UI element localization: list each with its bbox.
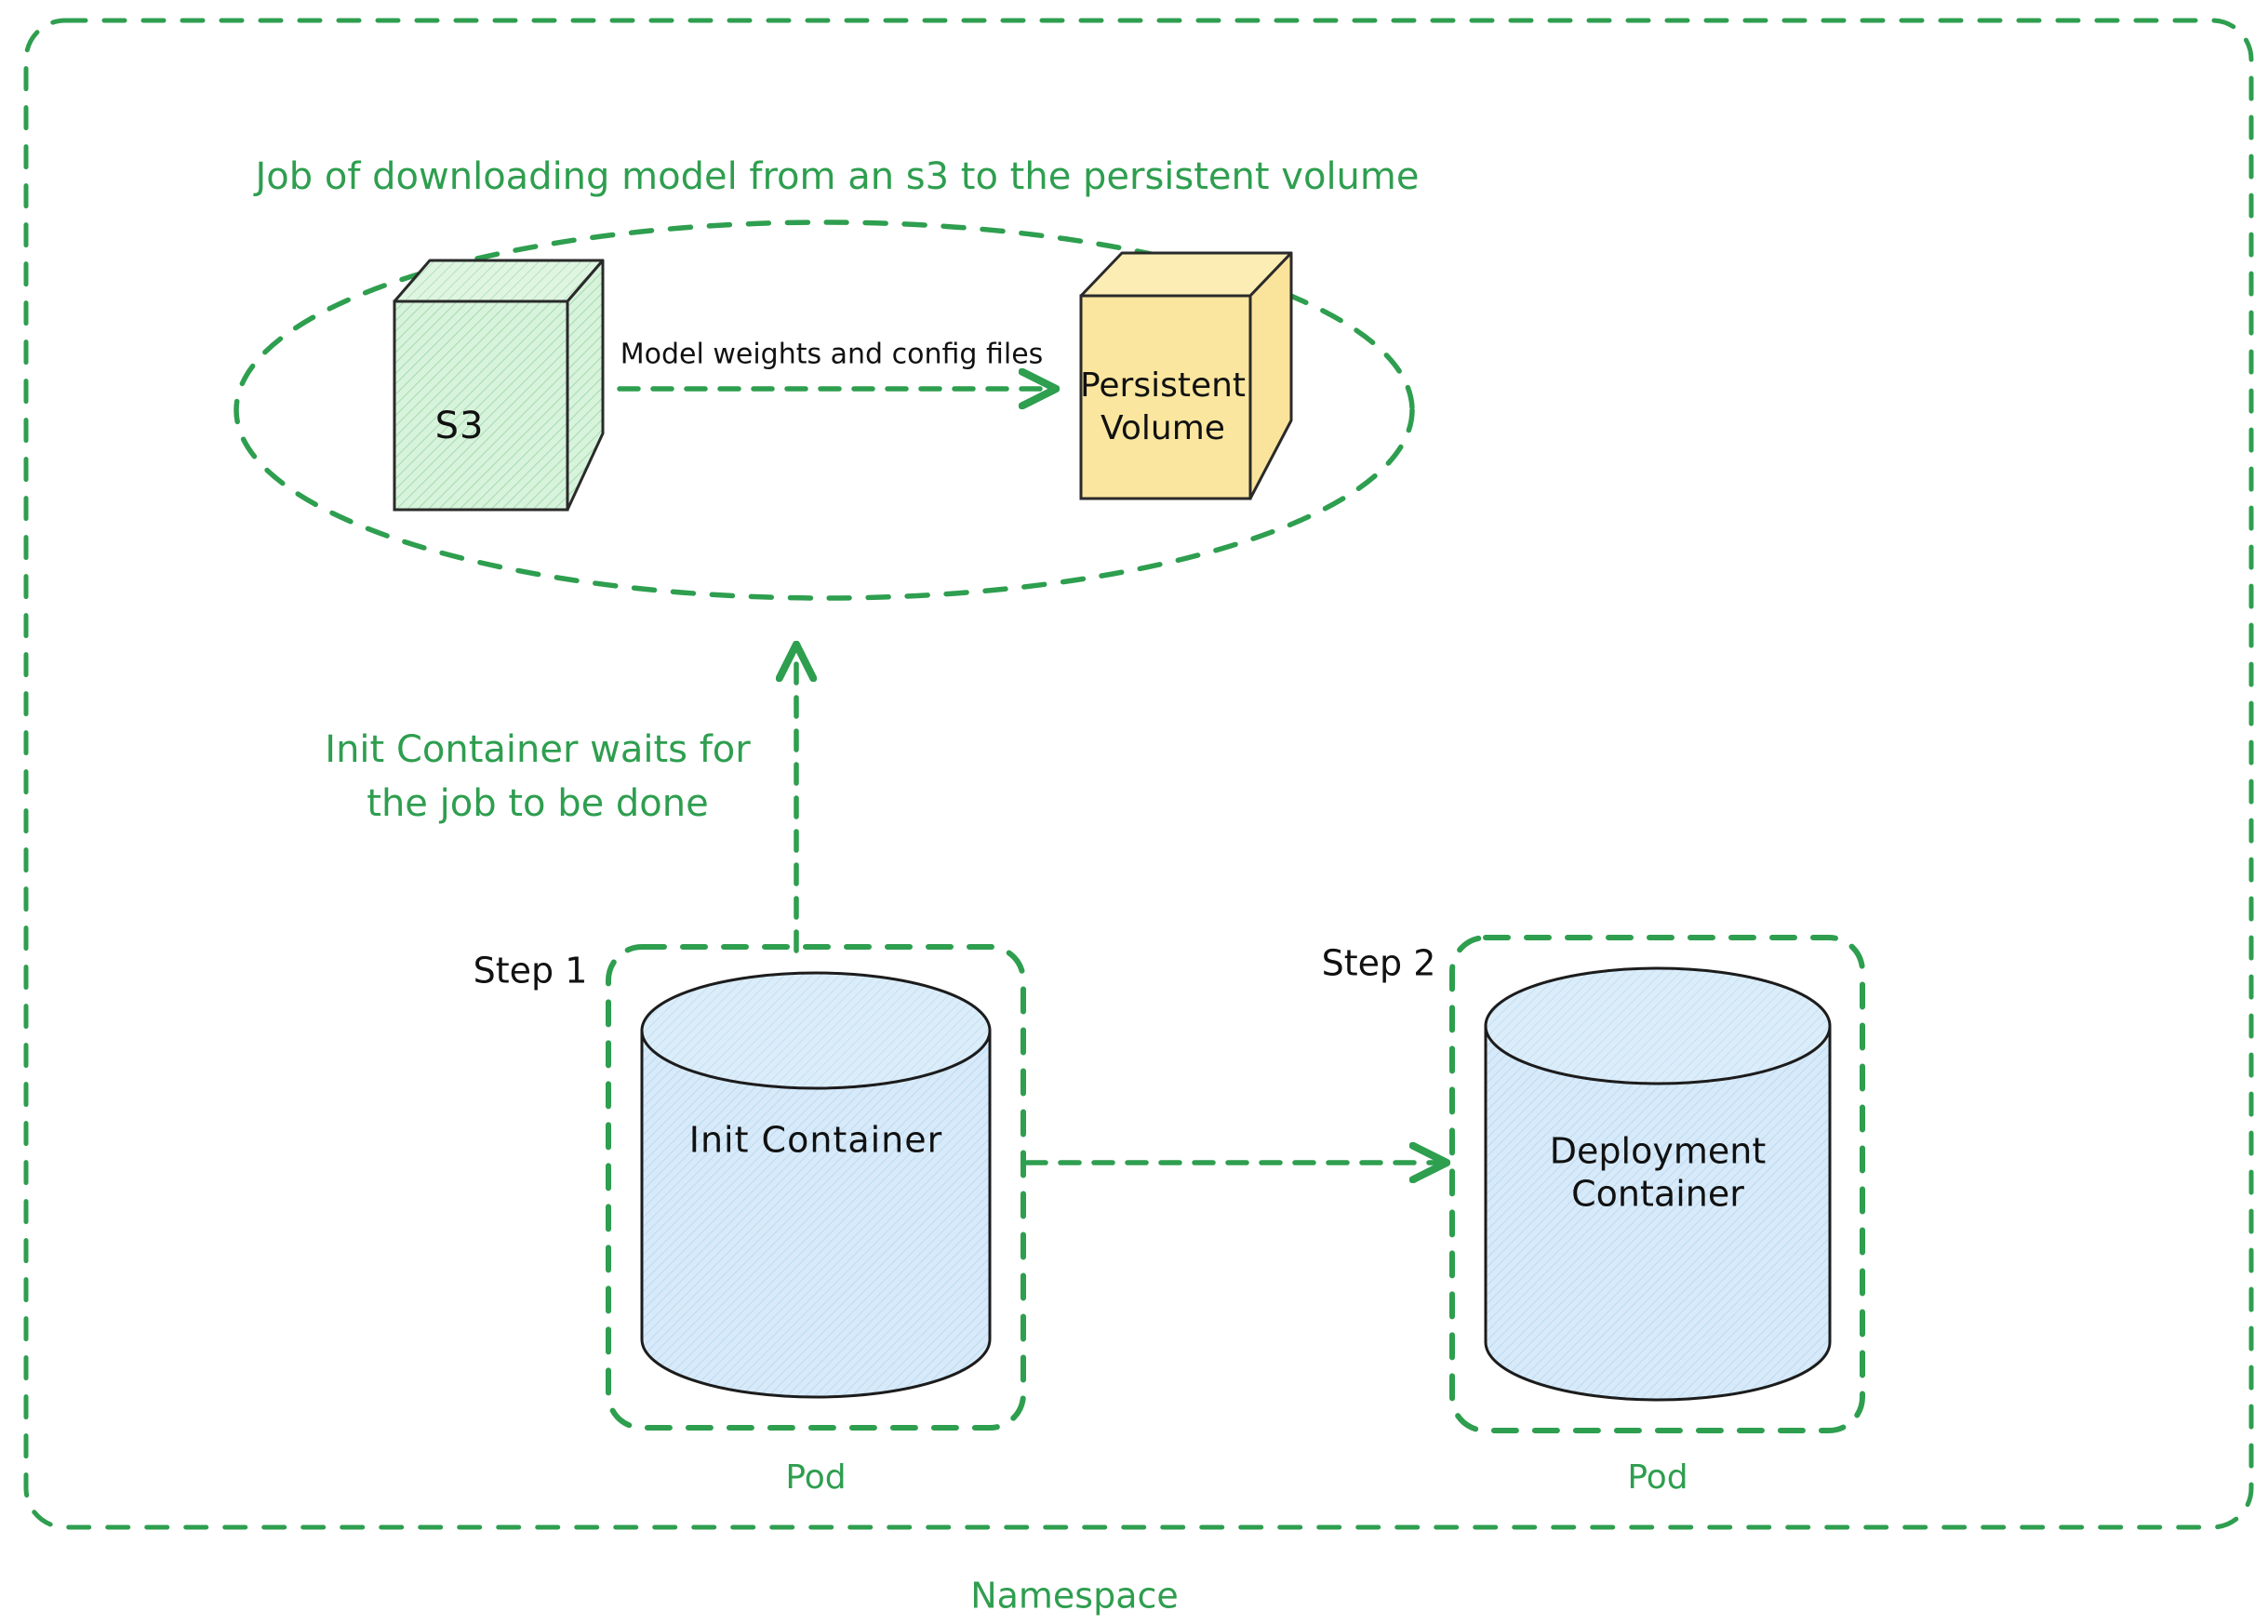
diagram-title: Job of downloading model from an s3 to t…	[253, 155, 1420, 198]
pod-1-step-label: Step 1	[474, 951, 588, 992]
namespace-label: Namespace	[970, 1576, 1179, 1617]
pod-2-boundary	[1452, 938, 1862, 1431]
s3-cube-front-face	[394, 301, 567, 510]
pod-1-label: Pod	[785, 1458, 846, 1497]
job-boundary-ellipse	[236, 222, 1412, 598]
init-cylinder-body	[642, 1031, 990, 1397]
s3-cube-right-face	[567, 260, 603, 510]
diagram-svg: S3 Persistent Volume Model weights and c…	[0, 0, 2268, 1624]
deployment-container-label-line1: Deployment	[1550, 1131, 1766, 1172]
s3-cube-top-face	[394, 260, 603, 301]
pv-cube-right-face	[1250, 253, 1291, 499]
deployment-container-label-line2: Container	[1571, 1174, 1744, 1215]
pv-label-line1: Persistent	[1080, 366, 1246, 405]
deployment-cylinder-body	[1486, 1026, 1830, 1400]
pod-2-step-label: Step 2	[1322, 943, 1436, 984]
init-wait-label-line2: the job to be done	[367, 782, 708, 825]
persistent-volume-node: Persistent Volume	[1080, 253, 1291, 499]
init-wait-label-line1: Init Container waits for	[325, 728, 751, 771]
s3-label: S3	[435, 405, 485, 447]
pod-deployment-container[interactable]: Deployment Container Step 2 Pod	[1322, 938, 1862, 1497]
s3-to-pv-arrow-label: Model weights and config files	[620, 339, 1044, 371]
pv-cube-front-face	[1081, 296, 1250, 499]
namespace-boundary	[26, 20, 2251, 1527]
pod-1-boundary	[608, 947, 1023, 1428]
pod-2-label: Pod	[1627, 1458, 1688, 1497]
init-container-label: Init Container	[689, 1120, 943, 1161]
pv-label-line2: Volume	[1101, 409, 1225, 447]
init-cylinder-top	[642, 973, 990, 1088]
diagram-canvas: S3 Persistent Volume Model weights and c…	[0, 0, 2268, 1624]
deployment-cylinder-top	[1486, 968, 1830, 1084]
pv-cube-top-face	[1081, 253, 1291, 296]
s3-node: S3	[394, 260, 603, 510]
pod-init-container[interactable]: Init Container Step 1 Pod	[474, 947, 1023, 1497]
